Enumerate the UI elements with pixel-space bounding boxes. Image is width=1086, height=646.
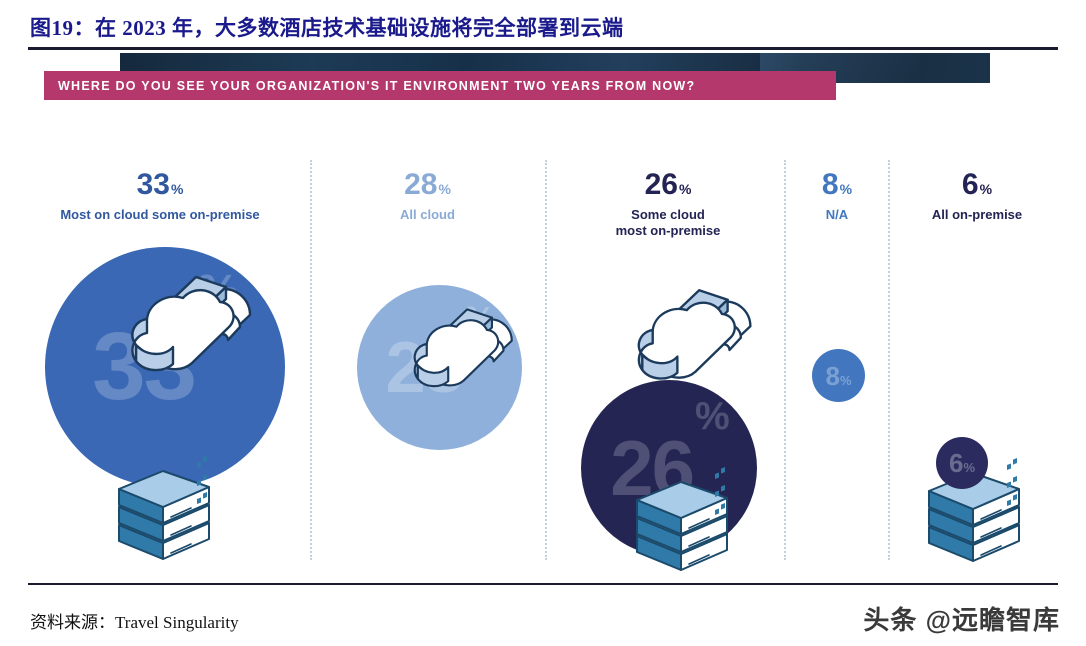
percent-number-1: 33 [137, 168, 170, 201]
percent-number-2: 28 [404, 168, 437, 201]
percent-value-1: 33% [35, 170, 285, 200]
percent-value-3: 26% [563, 170, 773, 200]
title-divider-rule [28, 47, 1058, 50]
server-icon-1 [113, 453, 219, 565]
bubble-watermark-4: 8% [825, 363, 851, 389]
column-divider-2 [545, 160, 547, 560]
survey-question-text: WHERE DO YOU SEE YOUR ORGANIZATION'S IT … [44, 79, 695, 93]
column-label-2: All cloud [320, 207, 535, 223]
column-header-1: 33% Most on cloud some on-premise [35, 170, 285, 223]
publisher-watermark: 头条 @远瞻智库 [863, 600, 1060, 637]
column-divider-4 [888, 160, 890, 560]
column-label-3-line2: most on-premise [563, 223, 773, 239]
percent-symbol-1: % [171, 181, 183, 197]
cloud-icon-2 [388, 281, 520, 393]
column-divider-3 [784, 160, 786, 560]
percent-number-5: 6 [962, 168, 979, 201]
column-header-5: 6% All on-premise [892, 170, 1062, 223]
percent-value-5: 6% [892, 170, 1062, 200]
cloud-icon-1 [100, 243, 260, 378]
infographic-page: 图19：在 2023 年，大多数酒店技术基础设施将完全部署到云端 WHERE D… [0, 0, 1086, 646]
survey-question-banner: WHERE DO YOU SEE YOUR ORGANIZATION'S IT … [44, 71, 836, 100]
bubble-circle-5: 6% [936, 437, 988, 489]
percent-number-3: 26 [645, 168, 678, 201]
bubble-watermark-5: 6% [949, 450, 975, 476]
column-header-3: 26% Some cloud most on-premise [563, 170, 773, 240]
column-label-1: Most on cloud some on-premise [35, 207, 285, 223]
bubble-circle-4: 8% [812, 349, 865, 402]
percent-value-4: 8% [788, 170, 886, 200]
percent-value-2: 28% [320, 170, 535, 200]
percent-symbol-2: % [438, 181, 450, 197]
percent-symbol-4: % [840, 181, 852, 197]
cloud-icon-3 [608, 258, 760, 386]
percent-number-4: 8 [822, 168, 839, 201]
column-label-3: Some cloud [563, 207, 773, 223]
page-title: 图19：在 2023 年，大多数酒店技术基础设施将完全部署到云端 [30, 12, 624, 42]
column-divider-1 [310, 160, 312, 560]
percent-symbol-3: % [679, 181, 691, 197]
server-icon-3 [631, 464, 737, 576]
source-note: 资料来源：Travel Singularity [30, 608, 239, 633]
column-label-4: N/A [788, 207, 886, 223]
column-label-5: All on-premise [892, 207, 1062, 223]
column-header-2: 28% All cloud [320, 170, 535, 223]
footer-divider-rule [28, 583, 1058, 585]
percent-symbol-5: % [980, 181, 992, 197]
column-header-4: 8% N/A [788, 170, 886, 223]
